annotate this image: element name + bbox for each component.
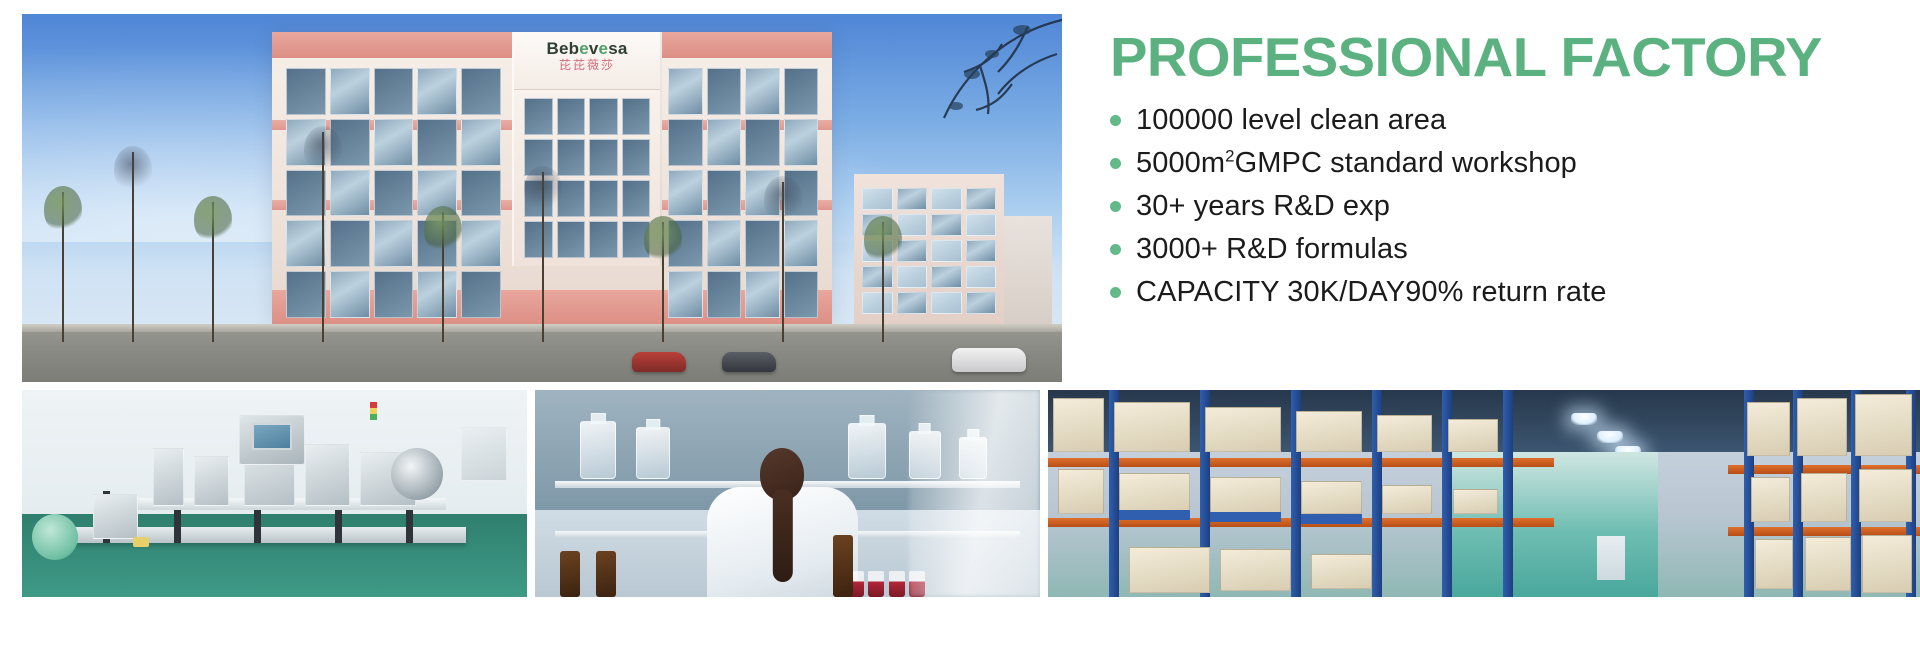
building-tower: Bebevesa 芘芘薇莎 [512,32,662,266]
list-item: CAPACITY 30K/DAY90% return rate [1110,271,1920,314]
packaging-machine-photo [22,390,527,597]
reagent-bottle [833,535,853,597]
tree [882,222,884,342]
bullet-dot-icon [1110,287,1121,298]
parked-car [632,352,686,372]
bullet-dot-icon [1110,115,1121,126]
reagent-bottle [596,551,616,597]
list-item: 5000m2GMPC standard workshop [1110,142,1920,185]
factory-building-photo: Bebevesa 芘芘薇莎 [22,14,1062,382]
top-row: Bebevesa 芘芘薇莎 [0,0,1920,390]
tree [132,152,134,342]
ponytail [773,490,793,582]
parked-car [952,348,1026,372]
foreground-glassware-blur [909,390,1040,597]
photo-gallery-row [0,390,1920,649]
material-reel [32,514,78,560]
tree [442,212,444,342]
sample-flask [868,571,884,597]
signage-panel: Bebevesa 芘芘薇莎 [514,32,660,90]
ceiling-light-icon [1571,413,1597,425]
tree [322,132,324,342]
hmi-screen [252,423,292,450]
sample-flask [889,571,905,597]
feature-column: PROFESSIONAL FACTORY 100000 level clean … [1062,0,1920,390]
glass-bottle [636,427,670,479]
tree [542,172,544,342]
ceiling-light-icon [1597,431,1623,443]
feature-list: 100000 level clean area 5000m2GMPC stand… [1110,99,1920,314]
feature-text: CAPACITY 30K/DAY90% return rate [1136,271,1607,314]
tree [62,192,64,342]
tree [782,182,784,342]
pallet-rack-right [1728,390,1920,597]
tower-light-icon [370,402,377,420]
list-item: 100000 level clean area [1110,99,1920,142]
far-doorway [1597,536,1625,580]
list-item: 3000+ R&D formulas [1110,228,1920,271]
film-roll [391,448,443,500]
feature-text: 100000 level clean area [1136,99,1446,142]
reagent-bottle [560,551,580,597]
feature-text: 3000+ R&D formulas [1136,228,1408,271]
bullet-dot-icon [1110,158,1121,169]
feature-text: 30+ years R&D exp [1136,185,1390,228]
brand-signage: Bebevesa 芘芘薇莎 [514,40,660,71]
warehouse-storage-photo [1048,390,1920,597]
bullet-dot-icon [1110,201,1121,212]
page-title: PROFESSIONAL FACTORY [1110,30,1920,85]
glass-bottle [580,421,616,479]
tree [662,222,664,342]
parked-car [722,352,776,372]
feature-text: 5000m2GMPC standard workshop [1136,142,1577,185]
tree [212,202,214,342]
laboratory-researcher-photo [535,390,1040,597]
pallet-rack-left [1048,390,1554,597]
brand-name-en: Bebevesa [514,40,660,58]
bullet-dot-icon [1110,244,1121,255]
professional-factory-banner: Bebevesa 芘芘薇莎 [0,0,1920,649]
list-item: 30+ years R&D exp [1110,185,1920,228]
brand-name-cn: 芘芘薇莎 [514,59,660,72]
